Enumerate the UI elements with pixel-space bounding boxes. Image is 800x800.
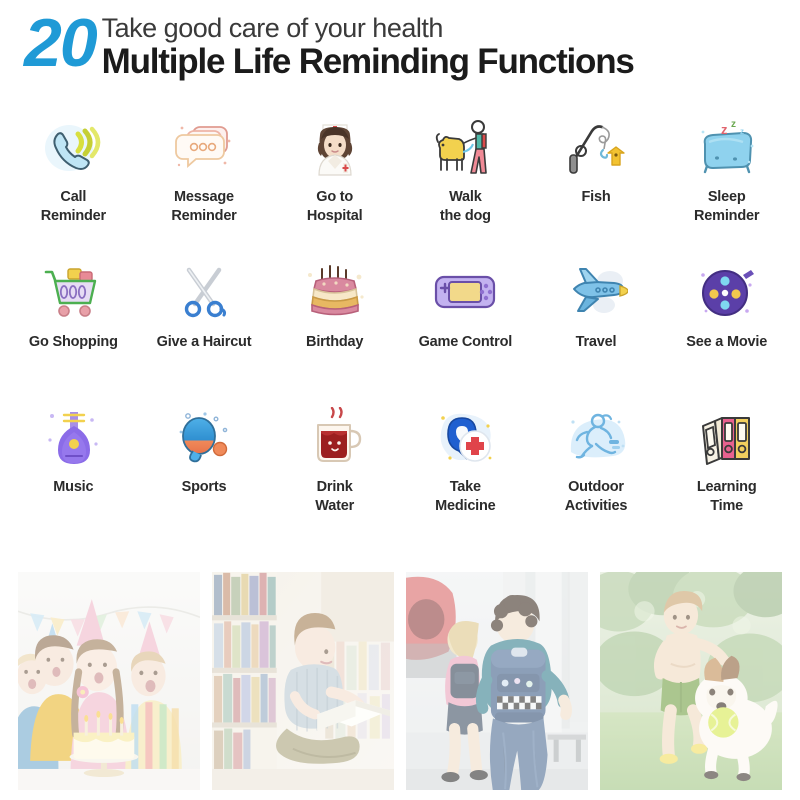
function-label: Give a Haircut bbox=[157, 333, 252, 352]
function-item[interactable]: Game Control bbox=[400, 255, 531, 400]
function-label: Sleep Reminder bbox=[694, 188, 759, 225]
guitar-icon bbox=[37, 404, 109, 470]
function-label: Message Reminder bbox=[171, 188, 236, 225]
function-item[interactable]: Drink Water bbox=[269, 400, 400, 545]
chat-bubbles-icon bbox=[168, 114, 240, 180]
boy-reading-library-photo bbox=[212, 572, 394, 790]
boy-running-with-dog-photo bbox=[600, 572, 782, 790]
scissors-icon bbox=[168, 259, 240, 325]
function-item[interactable]: Sports bbox=[139, 400, 270, 545]
tagline: Take good care of your health bbox=[102, 14, 786, 43]
functions-grid: Call Reminder Message Reminder bbox=[0, 100, 800, 545]
function-item[interactable]: Take Medicine bbox=[400, 400, 531, 545]
function-label: Learning Time bbox=[697, 478, 757, 515]
function-label: Call Reminder bbox=[41, 188, 106, 225]
film-reel-icon bbox=[691, 259, 763, 325]
function-item[interactable]: z z z Sleep Reminder bbox=[661, 110, 792, 255]
drink-mug-icon bbox=[299, 404, 371, 470]
photo-strip bbox=[0, 568, 800, 800]
svg-text:z: z bbox=[721, 122, 728, 137]
birthday-party-children-photo bbox=[18, 572, 200, 790]
header-text-block: Take good care of your health Multiple L… bbox=[102, 8, 786, 81]
sleeping-pillow-icon: z z z bbox=[691, 114, 763, 180]
function-item[interactable]: Fish bbox=[531, 110, 662, 255]
ping-pong-icon bbox=[168, 404, 240, 470]
function-label: Sports bbox=[182, 478, 227, 497]
fishing-rod-icon bbox=[560, 114, 632, 180]
function-label: See a Movie bbox=[686, 333, 767, 352]
svg-text:z: z bbox=[740, 127, 744, 136]
function-item[interactable]: Learning Time bbox=[661, 400, 792, 545]
function-label: Outdoor Activities bbox=[565, 478, 627, 515]
shopping-cart-icon bbox=[37, 259, 109, 325]
function-label: Take Medicine bbox=[435, 478, 495, 515]
function-label: Music bbox=[53, 478, 93, 497]
medicine-cross-icon bbox=[429, 404, 501, 470]
birthday-cake-icon bbox=[299, 259, 371, 325]
nurse-icon bbox=[299, 114, 371, 180]
count-number: 20 bbox=[24, 12, 96, 75]
page-title: Multiple Life Reminding Functions bbox=[102, 44, 786, 81]
function-item[interactable]: See a Movie bbox=[661, 255, 792, 400]
walk-the-dog-icon bbox=[429, 114, 501, 180]
function-item[interactable]: Message Reminder bbox=[139, 110, 270, 255]
function-item[interactable]: Birthday bbox=[269, 255, 400, 400]
function-item[interactable]: Go to Hospital bbox=[269, 110, 400, 255]
airplane-icon bbox=[560, 259, 632, 325]
function-item[interactable]: Music bbox=[8, 400, 139, 545]
infographic-page: 20 Take good care of your health Multipl… bbox=[0, 0, 800, 800]
svg-text:z: z bbox=[731, 119, 736, 130]
function-item[interactable]: Walk the dog bbox=[400, 110, 531, 255]
page-header: 20 Take good care of your health Multipl… bbox=[0, 0, 800, 100]
function-label: Fish bbox=[581, 188, 610, 207]
function-label: Walk the dog bbox=[440, 188, 491, 225]
children-backpacks-school-photo bbox=[406, 572, 588, 790]
function-label: Drink Water bbox=[315, 478, 354, 515]
phone-call-icon bbox=[37, 114, 109, 180]
function-item[interactable]: Go Shopping bbox=[8, 255, 139, 400]
function-item[interactable]: Travel bbox=[531, 255, 662, 400]
function-item[interactable]: Give a Haircut bbox=[139, 255, 270, 400]
handheld-console-icon bbox=[429, 259, 501, 325]
function-label: Go to Hospital bbox=[307, 188, 363, 225]
function-label: Travel bbox=[576, 333, 617, 352]
function-label: Go Shopping bbox=[29, 333, 118, 352]
running-person-icon bbox=[560, 404, 632, 470]
function-item[interactable]: Outdoor Activities bbox=[531, 400, 662, 545]
function-label: Game Control bbox=[419, 333, 512, 352]
book-binders-icon bbox=[691, 404, 763, 470]
function-label: Birthday bbox=[306, 333, 363, 352]
function-item[interactable]: Call Reminder bbox=[8, 110, 139, 255]
